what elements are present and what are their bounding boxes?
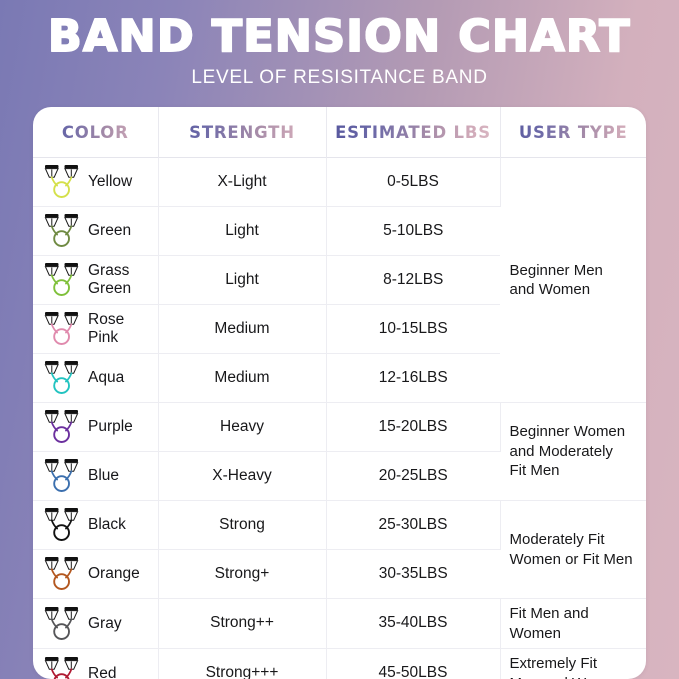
cell-user-type: Beginner Men and Women [500,158,646,403]
color-name-label: Rose Pink [88,311,124,348]
cell-color: Black [33,501,158,550]
table-header-row: COLOR STRENGTH ESTIMATED LBS USER TYPE [33,107,646,158]
color-cell-inner: Aqua [42,359,152,397]
color-name-label: Blue [88,467,119,485]
resistance-band-icon [42,506,82,544]
color-name-label: Grass Green [88,262,131,299]
cell-color: Blue [33,452,158,501]
resistance-band-icon [42,408,82,446]
cell-estimated-lbs: 5-10LBS [326,207,500,256]
color-cell-inner: Green [42,212,152,250]
cell-estimated-lbs: 15-20LBS [326,403,500,452]
column-header-lbs: ESTIMATED LBS [326,107,500,158]
color-cell-inner: Grass Green [42,261,152,299]
color-name-label: Red [88,665,116,679]
cell-strength: Light [158,207,326,256]
table-header: COLOR STRENGTH ESTIMATED LBS USER TYPE [33,107,646,158]
cell-strength: Heavy [158,403,326,452]
cell-estimated-lbs: 35-40LBS [326,599,500,649]
resistance-band-icon [42,457,82,495]
table-row: BlackStrong25-30LBSModerately Fit Women … [33,501,646,550]
cell-strength: Strong+++ [158,649,326,679]
table-row: RedStrong+++45-50LBSExtremely Fit Men an… [33,649,646,679]
page-subtitle: LEVEL OF RESISITANCE BAND [0,67,679,89]
column-header-strength: STRENGTH [158,107,326,158]
cell-color: Grass Green [33,256,158,305]
color-cell-inner: Black [42,506,152,544]
cell-strength: Light [158,256,326,305]
resistance-band-icon [42,359,82,397]
color-cell-inner: Blue [42,457,152,495]
color-name-label: Gray [88,615,122,633]
cell-strength: X-Light [158,158,326,207]
color-cell-inner: Orange [42,555,152,593]
table-row: PurpleHeavy15-20LBSBeginner Women and Mo… [33,403,646,452]
cell-user-type: Beginner Women and Moderately Fit Men [500,403,646,501]
color-name-label: Green [88,222,131,240]
cell-strength: Strong++ [158,599,326,649]
cell-strength: Strong [158,501,326,550]
color-name-label: Aqua [88,369,124,387]
cell-color: Red [33,649,158,679]
resistance-band-icon [42,655,82,679]
table-body: YellowX-Light0-5LBSBeginner Men and Wome… [33,158,646,679]
cell-estimated-lbs: 30-35LBS [326,550,500,599]
cell-strength: Medium [158,305,326,354]
color-name-label: Black [88,516,126,534]
cell-user-type: Extremely Fit Men and Women [500,649,646,679]
cell-estimated-lbs: 12-16LBS [326,354,500,403]
column-header-usertype: USER TYPE [500,107,646,158]
resistance-band-icon [42,261,82,299]
cell-estimated-lbs: 0-5LBS [326,158,500,207]
resistance-band-icon [42,310,82,348]
color-cell-inner: Yellow [42,163,152,201]
page-title: BAND TENSION CHART [0,14,679,60]
cell-color: Aqua [33,354,158,403]
page-root: BAND TENSION CHART LEVEL OF RESISITANCE … [0,0,679,679]
cell-estimated-lbs: 20-25LBS [326,452,500,501]
title-block: BAND TENSION CHART LEVEL OF RESISITANCE … [0,0,679,89]
resistance-band-icon [42,163,82,201]
cell-strength: Strong+ [158,550,326,599]
cell-color: Orange [33,550,158,599]
color-name-label: Yellow [88,173,132,191]
cell-estimated-lbs: 45-50LBS [326,649,500,679]
cell-color: Purple [33,403,158,452]
table-row: GrayStrong++35-40LBSFit Men and Women [33,599,646,649]
color-name-label: Purple [88,418,133,436]
color-name-label: Orange [88,565,140,583]
cell-color: Gray [33,599,158,649]
color-cell-inner: Rose Pink [42,310,152,348]
cell-color: Rose Pink [33,305,158,354]
resistance-band-icon [42,212,82,250]
resistance-band-icon [42,605,82,643]
band-tension-table: COLOR STRENGTH ESTIMATED LBS USER TYPE Y… [33,107,646,679]
column-header-color: COLOR [33,107,158,158]
table-row: YellowX-Light0-5LBSBeginner Men and Wome… [33,158,646,207]
color-cell-inner: Gray [42,605,152,643]
color-cell-inner: Purple [42,408,152,446]
cell-estimated-lbs: 10-15LBS [326,305,500,354]
chart-card: COLOR STRENGTH ESTIMATED LBS USER TYPE Y… [33,107,646,679]
cell-user-type: Fit Men and Women [500,599,646,649]
cell-estimated-lbs: 25-30LBS [326,501,500,550]
cell-strength: Medium [158,354,326,403]
cell-strength: X-Heavy [158,452,326,501]
resistance-band-icon [42,555,82,593]
cell-estimated-lbs: 8-12LBS [326,256,500,305]
cell-user-type: Moderately Fit Women or Fit Men [500,501,646,599]
cell-color: Green [33,207,158,256]
color-cell-inner: Red [42,655,152,679]
cell-color: Yellow [33,158,158,207]
